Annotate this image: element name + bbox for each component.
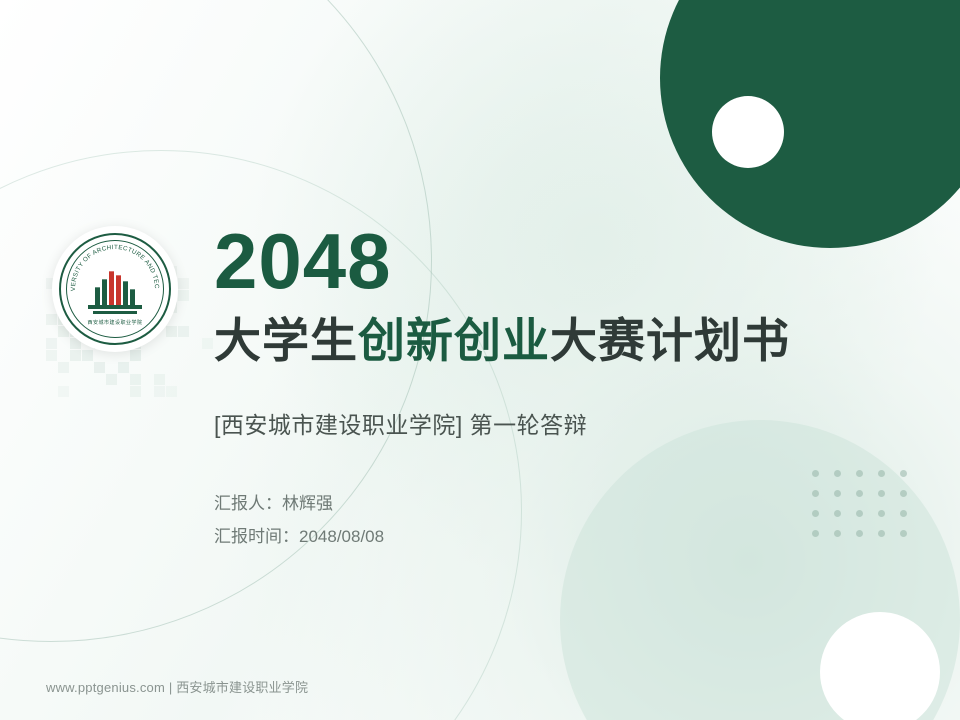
dot [900, 490, 907, 497]
dot [878, 510, 885, 517]
mosaic-pixel [46, 314, 57, 325]
decorative-dot-grid [812, 470, 922, 550]
dot [834, 530, 841, 537]
dot [812, 490, 819, 497]
dot [900, 510, 907, 517]
dot [856, 470, 863, 477]
dot [856, 530, 863, 537]
mosaic-pixel [154, 386, 165, 397]
slide-title-part-1: 大学生 [214, 314, 358, 367]
dot [834, 510, 841, 517]
slide-subtitle: [西安城市建设职业学院] 第一轮答辩 [214, 406, 587, 440]
mosaic-pixel [130, 374, 141, 385]
presenter-line: 汇报人：林辉强 [214, 487, 384, 520]
mosaic-pixel [202, 338, 213, 349]
mosaic-pixel [106, 374, 117, 385]
logo-inner-circle: XI'AN UNIVERSITY OF ARCHITECTURE AND TEC… [59, 233, 171, 345]
dot [834, 490, 841, 497]
mosaic-pixel [70, 350, 81, 361]
mosaic-pixel [130, 386, 141, 397]
logo-building-bars-icon [95, 271, 135, 305]
dot [878, 470, 885, 477]
slide-title: 大学生创新创业大赛计划书 [214, 316, 790, 365]
mosaic-pixel [166, 386, 177, 397]
dot [812, 470, 819, 477]
university-logo: XI'AN UNIVERSITY OF ARCHITECTURE AND TEC… [52, 226, 178, 352]
mosaic-pixel [58, 362, 69, 373]
mosaic-pixel [46, 350, 57, 361]
logo-base-bar2-icon [93, 311, 137, 314]
mosaic-pixel [178, 326, 189, 337]
logo-base-bar-icon [88, 305, 142, 309]
dot [812, 530, 819, 537]
dot [856, 510, 863, 517]
dot [878, 490, 885, 497]
dot [812, 510, 819, 517]
decorative-circle-white-small [820, 612, 940, 720]
dot [834, 470, 841, 477]
logo-bottom-label: 西安城市建设职业学院 [61, 319, 169, 326]
dot [878, 530, 885, 537]
mosaic-pixel [118, 362, 129, 373]
dot [900, 530, 907, 537]
mosaic-pixel [178, 278, 189, 289]
date-line: 汇报时间：2048/08/08 [214, 520, 384, 553]
slide-year: 2048 [214, 222, 392, 300]
slide-footer: www.pptgenius.com | 西安城市建设职业学院 [46, 677, 308, 696]
mosaic-pixel [178, 290, 189, 301]
mosaic-pixel [46, 338, 57, 349]
slide-title-part-3: 大赛计划书 [550, 314, 790, 367]
slide-meta: 汇报人：林辉强 汇报时间：2048/08/08 [214, 487, 384, 553]
mosaic-pixel [130, 350, 141, 361]
dot [900, 470, 907, 477]
mosaic-pixel [154, 374, 165, 385]
mosaic-pixel [82, 350, 93, 361]
dot [856, 490, 863, 497]
mosaic-pixel [94, 362, 105, 373]
decorative-circle-white-large [712, 96, 784, 168]
mosaic-pixel [58, 386, 69, 397]
slide-title-part-2: 创新创业 [358, 314, 550, 367]
presentation-slide: XI'AN UNIVERSITY OF ARCHITECTURE AND TEC… [0, 0, 960, 720]
